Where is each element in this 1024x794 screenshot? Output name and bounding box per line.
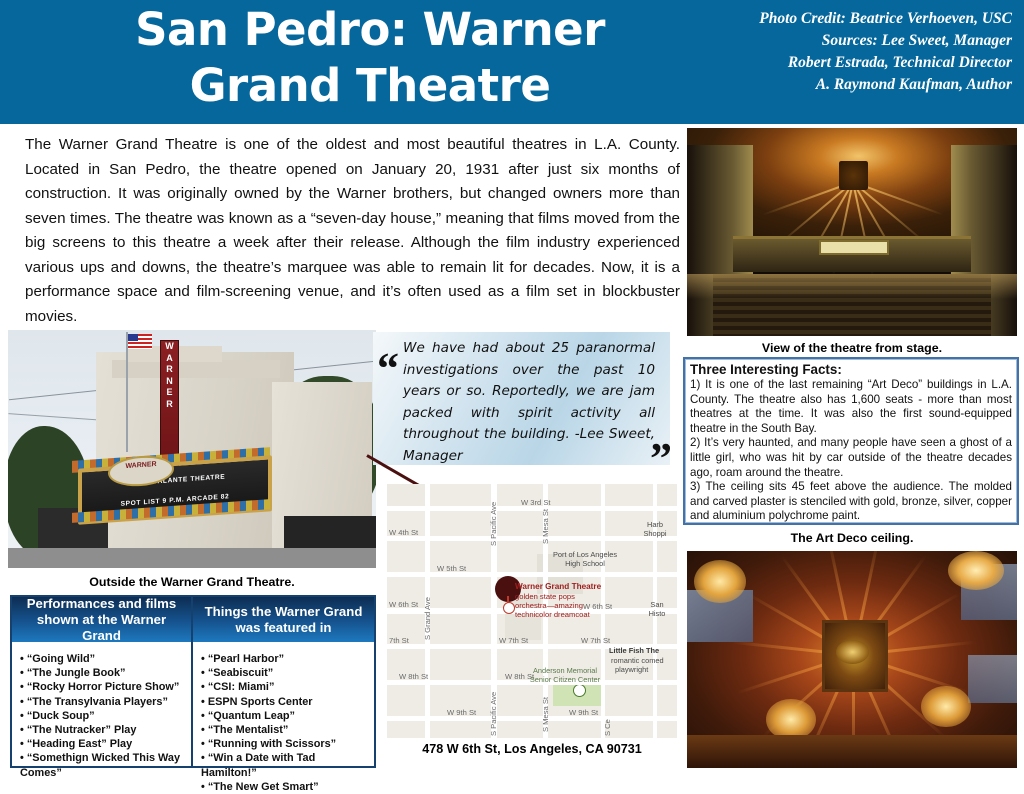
list-item: • “The Nutracker” Play bbox=[20, 723, 185, 737]
list-body-performances: • “Going Wild” • “The Jungle Book” • “Ro… bbox=[12, 642, 191, 780]
caption-ceiling: The Art Deco ceiling. bbox=[687, 531, 1017, 545]
list-item: • “The Transylvania Players” bbox=[20, 695, 185, 709]
list-header-performances: Performances and films shown at the Warn… bbox=[12, 597, 191, 642]
credit-source-3: A. Raymond Kaufman, Author bbox=[592, 74, 1012, 96]
caption-outside: Outside the Warner Grand Theatre. bbox=[8, 575, 376, 589]
map-pin-circle bbox=[503, 602, 515, 614]
map-poi-harbor: Harb Shoppi bbox=[635, 520, 675, 538]
map-poi-high-school-l1: Port of Los Angeles High School bbox=[549, 550, 621, 568]
credit-source-1: Sources: Lee Sweet, Manager bbox=[592, 30, 1012, 52]
map-label-pacific-bottom: S Pacific Ave bbox=[489, 692, 498, 736]
map-marker-line4: technicolor dreamcoat bbox=[515, 610, 590, 619]
sidewalk bbox=[8, 548, 376, 568]
list-item: • “Going Wild” bbox=[20, 652, 185, 666]
flagpole bbox=[126, 332, 128, 452]
map-label-pacific-top: S Pacific Ave bbox=[489, 502, 498, 546]
quote-close-icon: ” bbox=[650, 444, 672, 474]
facts-box: Three Interesting Facts: 1) It is one of… bbox=[683, 357, 1019, 525]
list-item: • “The New Get Smart” bbox=[201, 780, 368, 794]
map-label-w5th: W 5th St bbox=[437, 564, 466, 573]
blade-sign-letter-a: A bbox=[161, 353, 178, 365]
map-label-w8th-left: W 8th St bbox=[399, 672, 428, 681]
blade-sign-letter-r2: R bbox=[161, 399, 178, 411]
ceiling-lamp-bottomleft bbox=[766, 699, 816, 740]
map-label-w4th: W 4th St bbox=[389, 528, 418, 537]
list-column-featured: Things the Warner Grand was featured in … bbox=[193, 597, 374, 766]
map-label-w7th-mid: W 7th St bbox=[499, 636, 528, 645]
list-item: • “Seabiscuit” bbox=[201, 666, 368, 680]
list-item: • “Rocky Horror Picture Show” bbox=[20, 680, 185, 694]
blade-sign-letter-r1: R bbox=[161, 364, 178, 376]
photo-outside-theatre: W A R N E R THE ESCALANTE THEATRE SPOT L… bbox=[8, 330, 376, 568]
page-title-line2: Grand Theatre bbox=[60, 58, 680, 114]
map-park-pin-icon bbox=[573, 684, 586, 697]
blade-sign-letter-e: E bbox=[161, 387, 178, 399]
ceiling-blue-panel-right bbox=[968, 655, 1018, 703]
list-column-performances: Performances and films shown at the Warn… bbox=[12, 597, 193, 766]
poster-root: San Pedro: Warner Grand Theatre Photo Cr… bbox=[0, 0, 1024, 768]
map-label-w9th-left: W 9th St bbox=[447, 708, 476, 717]
interior-projection-wall bbox=[819, 240, 889, 254]
intro-paragraph: The Warner Grand Theatre is one of the o… bbox=[25, 133, 680, 329]
map-address: 478 W 6th St, Los Angeles, CA 90731 bbox=[387, 742, 677, 756]
photo-art-deco-ceiling bbox=[687, 551, 1017, 768]
map-marker-pin-icon[interactable] bbox=[503, 596, 513, 612]
list-item: • “Duck Soup” bbox=[20, 709, 185, 723]
fact-item-1: 1) It is one of the last remaining “Art … bbox=[690, 378, 1012, 436]
list-item: • “Heading East” Play bbox=[20, 737, 185, 751]
list-item: • “The Mentalist” bbox=[201, 723, 368, 737]
map-road-vert-4 bbox=[601, 484, 605, 738]
quote-text: We have had about 25 paranormal investig… bbox=[403, 338, 655, 468]
map-road-5th bbox=[387, 572, 677, 577]
map-poi-harbor-l2: Shoppi bbox=[635, 529, 675, 538]
map-label-grand: S Grand Ave bbox=[423, 597, 432, 640]
map-road-4th bbox=[387, 536, 677, 541]
location-map[interactable]: W 3rd St W 4th St W 5th St W 6th St W 6t… bbox=[387, 484, 677, 738]
map-label-w7th-left: 7th St bbox=[389, 636, 409, 645]
map-label-w6th-left: W 6th St bbox=[389, 600, 418, 609]
map-poi-little-fish-sub2: playwright bbox=[615, 665, 677, 674]
quote-open-icon: “ bbox=[377, 354, 399, 384]
map-poi-san-histo: San Histo bbox=[639, 600, 675, 618]
photo-theatre-interior bbox=[687, 128, 1017, 336]
ceiling-cornice bbox=[687, 735, 1017, 768]
caption-interior: View of the theatre from stage. bbox=[687, 341, 1017, 355]
interior-stage-glow bbox=[687, 274, 1017, 299]
list-header-featured: Things the Warner Grand was featured in bbox=[193, 597, 374, 642]
map-marker-line2: golden state pops bbox=[515, 592, 575, 601]
map-road-9th bbox=[387, 716, 677, 721]
map-marker-line3: orchestra—amazing bbox=[515, 601, 583, 610]
header-banner: San Pedro: Warner Grand Theatre Photo Cr… bbox=[0, 0, 1024, 124]
facade-cornice bbox=[112, 360, 280, 378]
list-item: • “CSI: Miami” bbox=[201, 680, 368, 694]
map-poi-harbor-l1: Harb bbox=[635, 520, 675, 529]
list-item: • “Quantum Leap” bbox=[201, 709, 368, 723]
map-label-mesa-bottom: S Mesa St bbox=[541, 697, 550, 732]
fact-item-2: 2) It’s very haunted, and many people ha… bbox=[690, 436, 1012, 480]
blade-sign-letter-w: W bbox=[161, 341, 178, 353]
map-label-sce: S Ce bbox=[603, 719, 612, 736]
map-label-w3rd: W 3rd St bbox=[521, 498, 551, 507]
page-title: San Pedro: Warner Grand Theatre bbox=[60, 2, 680, 114]
ceiling-lamp-topright bbox=[948, 551, 1004, 590]
map-label-mesa-top: S Mesa St bbox=[541, 509, 550, 544]
map-poi-anderson-l2: Senior Citizen Center bbox=[527, 675, 603, 684]
credit-source-2: Robert Estrada, Technical Director bbox=[592, 52, 1012, 74]
page-title-line1: San Pedro: Warner bbox=[60, 2, 680, 58]
blade-sign-warner: W A R N E R bbox=[160, 340, 179, 470]
blade-sign-letter-n: N bbox=[161, 376, 178, 388]
map-poi-san-l2: Histo bbox=[639, 609, 675, 618]
list-body-featured: • “Pearl Harbor” • “Seabiscuit” • “CSI: … bbox=[193, 642, 374, 794]
credits-block: Photo Credit: Beatrice Verhoeven, USC So… bbox=[592, 8, 1012, 96]
us-flag-icon bbox=[128, 334, 152, 349]
list-item: • “The Jungle Book” bbox=[20, 666, 185, 680]
pull-quote-block: “ We have had about 25 paranormal invest… bbox=[373, 332, 670, 465]
map-poi-high-school: Port of Los Angeles High School bbox=[549, 550, 621, 568]
map-marker-title: Warner Grand Theatre bbox=[515, 582, 601, 591]
map-marker-title-text: Warner Grand Theatre bbox=[515, 582, 601, 591]
map-poi-little-fish-sub1: romantic comed bbox=[611, 656, 677, 665]
map-poi-anderson: Anderson Memorial Senior Citizen Center bbox=[527, 666, 603, 684]
ceiling-center-rosette bbox=[836, 640, 869, 664]
interior-ceiling-medallion bbox=[839, 161, 869, 190]
credit-photo: Photo Credit: Beatrice Verhoeven, USC bbox=[592, 8, 1012, 30]
map-label-w9th-right: W 9th St bbox=[569, 708, 598, 717]
lists-container: Performances and films shown at the Warn… bbox=[10, 595, 376, 768]
list-item: • “Pearl Harbor” bbox=[201, 652, 368, 666]
map-block bbox=[387, 484, 427, 508]
ceiling-lamp-topleft bbox=[694, 560, 747, 603]
map-label-w7th-right: W 7th St bbox=[581, 636, 610, 645]
map-poi-little-fish: Little Fish The bbox=[609, 646, 677, 655]
list-item: • ESPN Sports Center bbox=[201, 695, 368, 709]
map-poi-san-l1: San bbox=[639, 600, 675, 609]
facts-heading: Three Interesting Facts: bbox=[690, 362, 1012, 378]
list-item: • “Running with Scissors” bbox=[201, 737, 368, 751]
ceiling-lamp-bottomright bbox=[921, 686, 971, 727]
fact-item-3: 3) The ceiling sits 45 feet above the au… bbox=[690, 480, 1012, 524]
list-item: • “Win a Date with Tad Hamilton!” bbox=[201, 751, 368, 779]
list-item: • “Somethign Wicked This Way Comes” bbox=[20, 751, 185, 779]
map-poi-anderson-l1: Anderson Memorial bbox=[527, 666, 603, 675]
